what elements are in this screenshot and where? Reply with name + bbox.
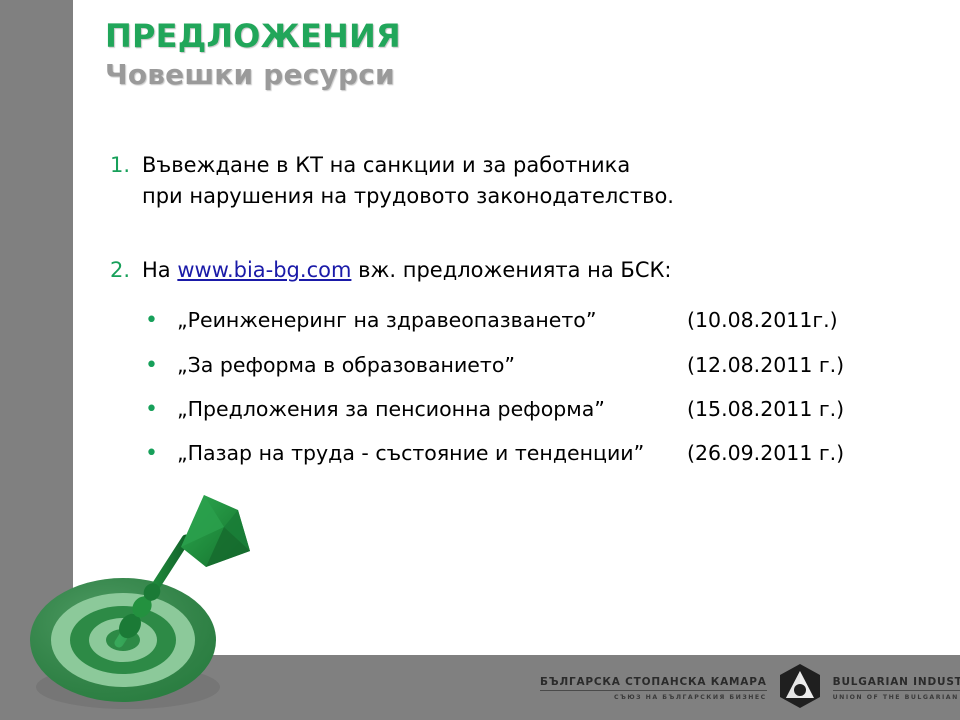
logo-english-text: BULGARIAN INDUSTRIAL ASSOCIATION UNION O… [833, 676, 960, 701]
slide-canvas: ПРЕДЛОЖЕНИЯ Човешки ресурси [0, 0, 960, 720]
numbered-item-1: 1. Въвеждане в КТ на санкции и за работн… [110, 150, 674, 212]
bullet-item-2-label: „За реформа в образованието” [177, 350, 687, 380]
numbered-item-2-marker: 2. [110, 255, 142, 286]
bullet-item-2-date: (12.08.2011 г.) [687, 350, 844, 380]
logo-bg-main: БЪЛГАРСКА СТОПАНСКА КАМАРА [540, 676, 767, 691]
logo-bg-sub: СЪЮЗ НА БЪЛГАРСКИЯ БИЗНЕС [614, 691, 767, 701]
bullet-item-3-label: „Предложения за пенсионна реформа” [177, 394, 687, 424]
bullet-item-1: • „Реинженеринг на здравеопазването” (10… [145, 305, 875, 336]
bia-hexagon-emblem-icon [776, 662, 824, 714]
bullet-dot-icon: • [145, 395, 177, 425]
logo-en-main: BULGARIAN INDUSTRIAL ASSOCIATION [833, 676, 960, 691]
bullet-item-1-date: (10.08.2011г.) [687, 305, 838, 335]
bullet-item-4-date: (26.09.2011 г.) [687, 438, 844, 468]
content-body: 1. Въвеждане в КТ на санкции и за работн… [0, 0, 960, 655]
bullet-item-3: • „Предложения за пенсионна реформа” (15… [145, 394, 875, 425]
logo-bulgarian-text: БЪЛГАРСКА СТОПАНСКА КАМАРА СЪЮЗ НА БЪЛГА… [540, 676, 767, 701]
bullet-dot-icon: • [145, 351, 177, 381]
bullet-item-2: • „За реформа в образованието” (12.08.20… [145, 350, 875, 381]
logo-en-sub: UNION OF THE BULGARIAN BUSINESS [833, 691, 960, 701]
numbered-item-2-prefix: На [142, 258, 177, 282]
bullet-item-4: • „Пазар на труда - състояние и тенденци… [145, 438, 875, 469]
numbered-item-1-text: Въвеждане в КТ на санкции и за работника… [142, 150, 674, 212]
bia-footer-logo: БЪЛГАРСКА СТОПАНСКА КАМАРА СЪЮЗ НА БЪЛГА… [540, 663, 950, 713]
bullet-item-3-date: (15.08.2011 г.) [687, 394, 844, 424]
numbered-item-2-text: На www.bia-bg.com вж. предложенията на Б… [142, 255, 671, 286]
bullet-dot-icon: • [145, 306, 177, 336]
bullet-item-4-label: „Пазар на труда - състояние и тенденции” [177, 438, 687, 468]
numbered-item-1-marker: 1. [110, 150, 142, 181]
bia-website-link[interactable]: www.bia-bg.com [177, 258, 351, 282]
numbered-item-2-suffix: вж. предложенията на БСК: [351, 258, 671, 282]
bullet-item-1-label: „Реинженеринг на здравеопазването” [177, 305, 687, 335]
numbered-item-2: 2. На www.bia-bg.com вж. предложенията н… [110, 255, 671, 286]
bullet-dot-icon: • [145, 439, 177, 469]
